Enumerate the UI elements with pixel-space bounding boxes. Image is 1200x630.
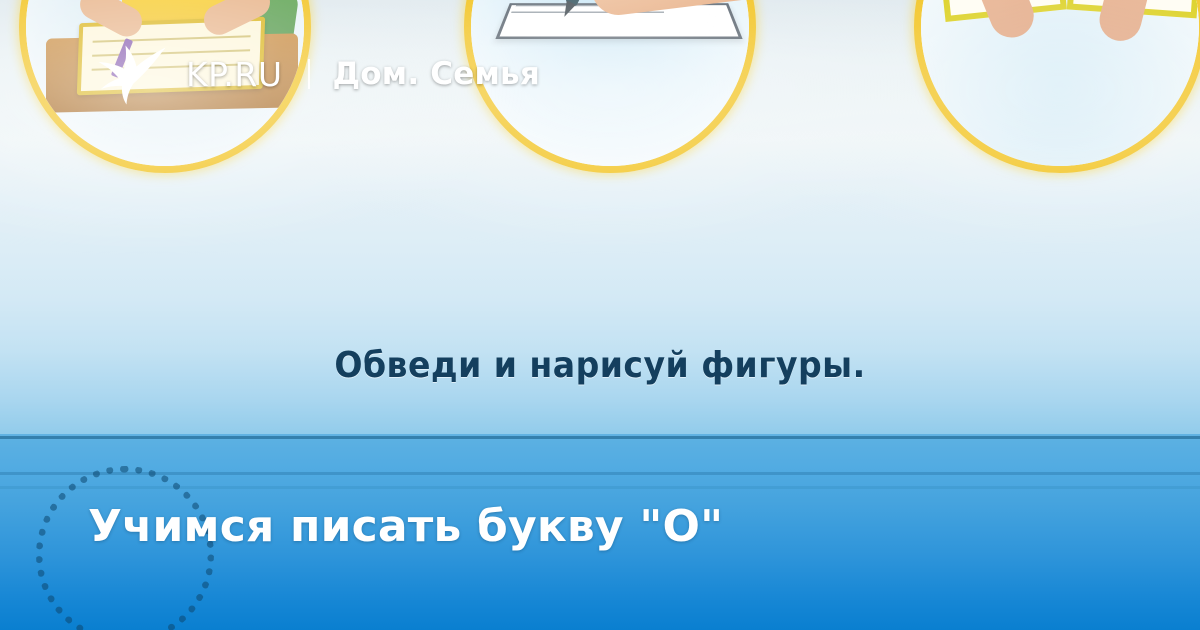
brand-separator (308, 59, 310, 89)
brand-site-name[interactable]: KP.RU (186, 55, 282, 94)
brand-section-name[interactable]: Дом. Семья (332, 56, 539, 92)
hero-card: Обведи и нарисуй фигуры. Учимся писать б… (0, 0, 1200, 630)
worksheet-rule-line (0, 472, 1200, 475)
swallow-bird-icon[interactable] (96, 43, 168, 105)
page-title: Учимся писать букву "О" (88, 499, 723, 555)
illustration-circle-hands-drawing (914, 0, 1200, 173)
brand-bar[interactable]: KP.RU Дом. Семья (96, 44, 540, 104)
worksheet-caption: Обведи и нарисуй фигуры. (48, 345, 1152, 386)
worksheet-rule-line (0, 436, 1200, 439)
